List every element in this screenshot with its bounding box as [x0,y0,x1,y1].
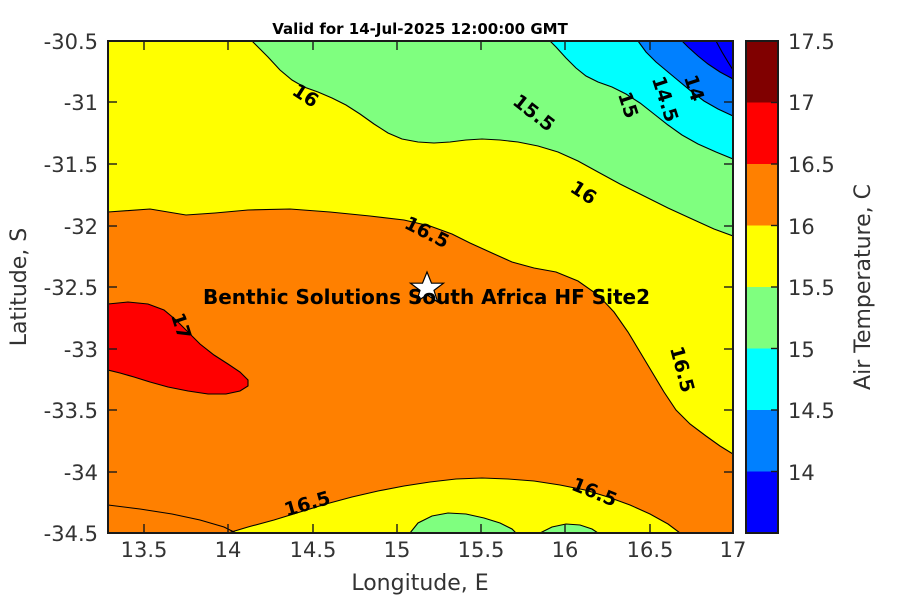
colorbar-tick-label: 16 [788,215,815,239]
y-tick-label: -31 [64,91,98,115]
x-tick-label: 15 [384,538,411,562]
y-tick-label: -34.5 [44,522,98,546]
colorbar-swatch [746,164,778,226]
site-label: Benthic Solutions South Africa HF Site2 [203,285,650,309]
colorbar-tick-label: 15 [788,338,815,362]
colorbar-tick-label: 16.5 [788,153,835,177]
colorbar-tick-label: 14 [788,461,815,485]
colorbar-swatch [746,287,778,349]
x-tick-label: 16 [552,538,579,562]
y-tick-label: -31.5 [44,153,98,177]
colorbar-swatch [746,410,778,472]
colorbar-swatch [746,226,778,288]
colorbar-tick-label: 17.5 [788,30,835,54]
colorbar-swatch [746,41,778,103]
colorbar-title: Air Temperature, C [851,184,876,390]
y-tick-label: -34 [64,461,98,485]
y-tick-label: -32 [64,215,98,239]
y-tick-label: -32.5 [44,276,98,300]
colorbar-tick-label: 17 [788,91,815,115]
x-tick-label: 14 [215,538,242,562]
x-tick-label: 15.5 [458,538,505,562]
colorbar-tick-label: 14.5 [788,399,835,423]
x-tick-label: 16.5 [627,538,674,562]
y-tick-label: -33.5 [44,399,98,423]
x-tick-label: 14.5 [290,538,337,562]
plot-area: Benthic Solutions South Africa HF Site2 … [7,20,746,596]
colorbar-swatch [746,349,778,411]
contour-map-figure: Benthic Solutions South Africa HF Site2 … [0,0,900,600]
x-axis-title: Longitude, E [351,571,488,596]
x-tick-label: 13.5 [121,538,168,562]
colorbar-swatch [746,472,778,534]
y-tick-label: -30.5 [44,30,98,54]
page-title: Valid for 14-Jul-2025 12:00:00 GMT [272,20,568,38]
x-tick-label: 17 [720,538,747,562]
y-tick-label: -33 [64,338,98,362]
y-axis-title: Latitude, S [7,228,32,347]
colorbar-tick-label: 15.5 [788,276,835,300]
colorbar-swatch [746,103,778,165]
